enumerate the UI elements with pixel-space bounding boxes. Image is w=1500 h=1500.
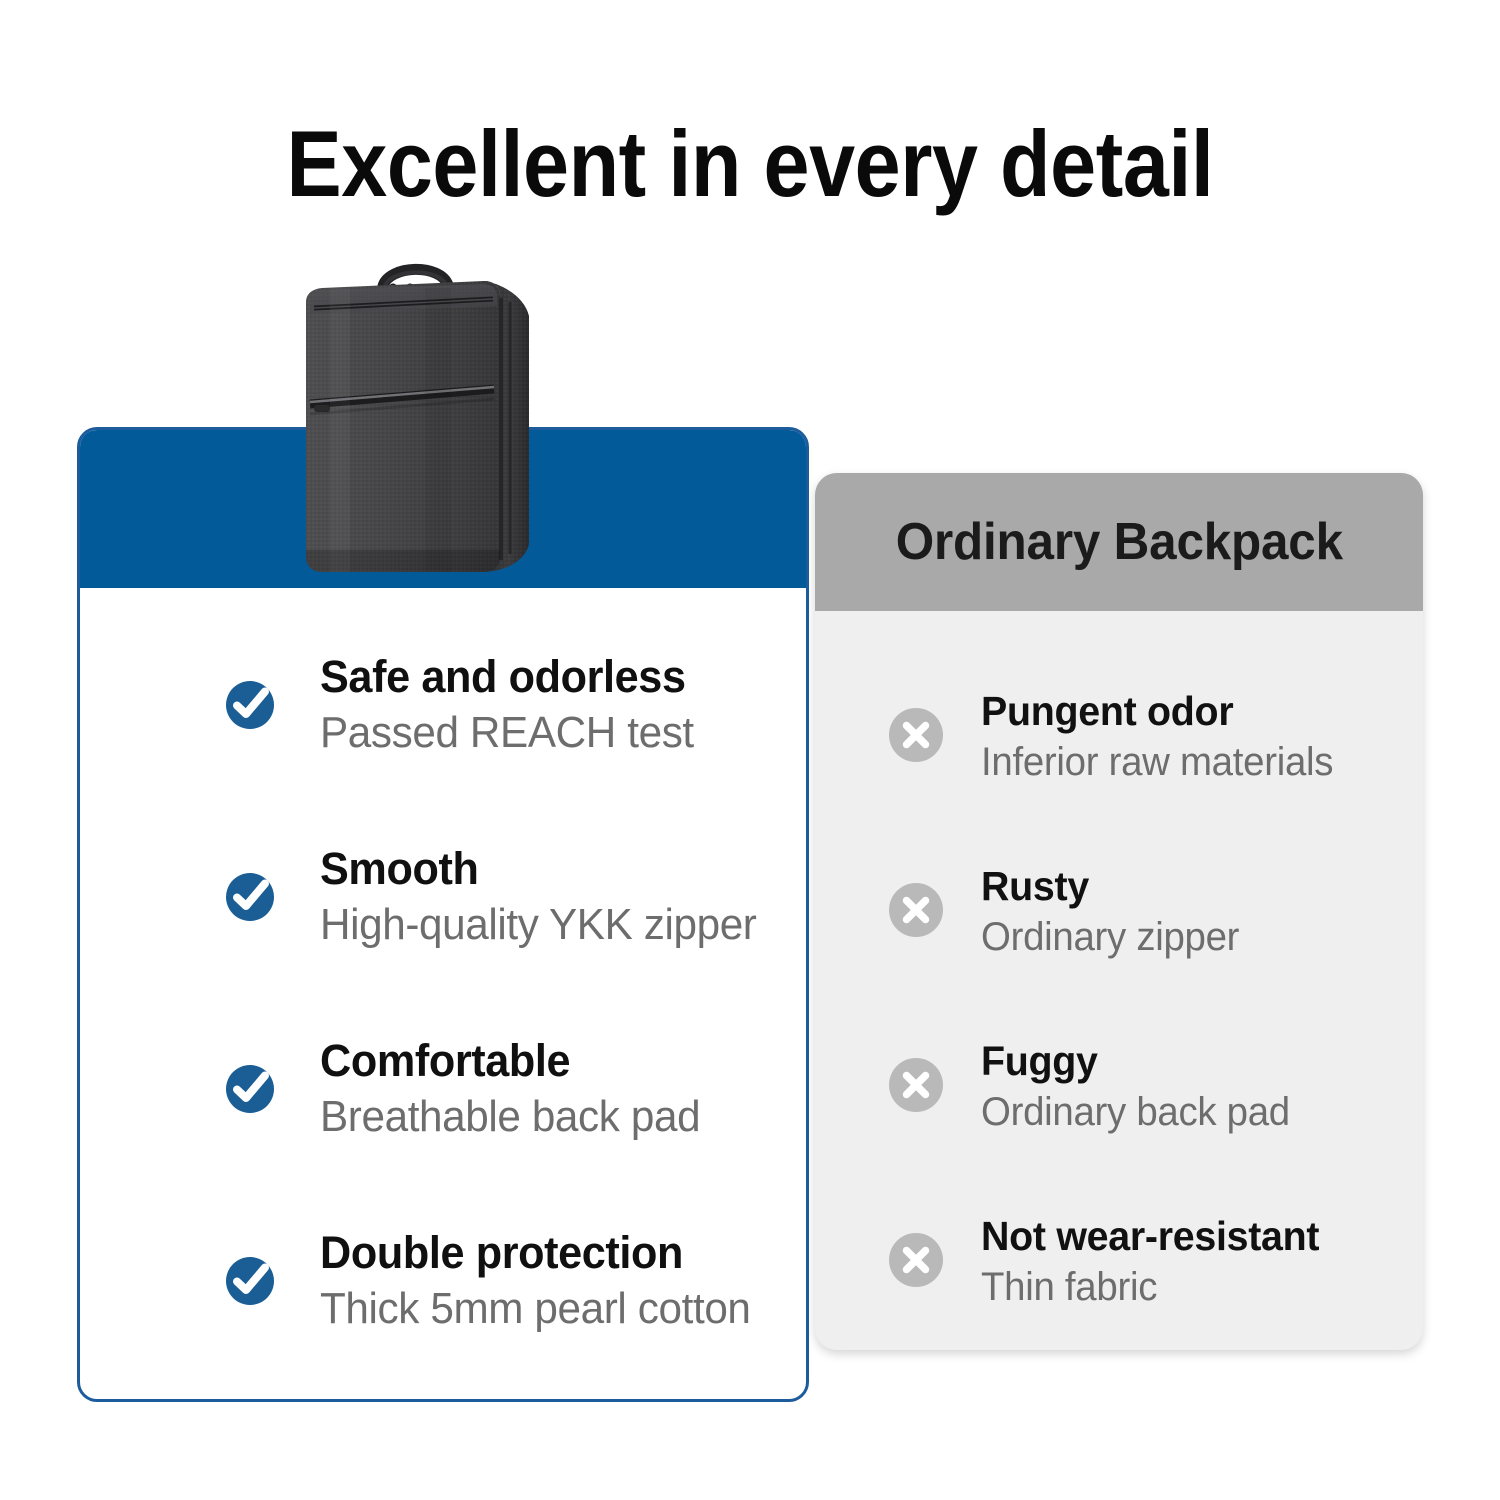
list-item-subtitle: Inferior raw materials [981, 736, 1333, 788]
backpack-product-image [288, 258, 553, 580]
list-item-title: Comfortable [320, 1034, 700, 1088]
list-item: Fuggy Ordinary back pad [815, 1023, 1423, 1151]
ordinary-feature-list: Pungent odor Inferior raw materials Rust… [815, 611, 1423, 1326]
premium-feature-list: Safe and odorless Passed REACH test Smoo… [80, 588, 806, 1346]
list-item-subtitle: Ordinary zipper [981, 911, 1239, 963]
list-item-text: Smooth High-quality YKK zipper [320, 842, 775, 954]
check-circle-icon [220, 866, 280, 931]
list-item-text: Pungent odor Inferior raw materials [981, 686, 1348, 788]
list-item-title: Pungent odor [981, 686, 1333, 736]
list-item: Not wear-resistant Thin fabric [815, 1198, 1423, 1326]
list-item: Safe and odorless Passed REACH test [80, 642, 806, 770]
list-item-text: Safe and odorless Passed REACH test [320, 650, 709, 762]
list-item-title: Rusty [981, 861, 1239, 911]
list-item-subtitle: Passed REACH test [320, 704, 694, 762]
list-item: Pungent odor Inferior raw materials [815, 673, 1423, 801]
list-item-title: Double protection [320, 1226, 751, 1280]
list-item-subtitle: Breathable back pad [320, 1088, 700, 1146]
list-item-text: Double protection Thick 5mm pearl cotton [320, 1226, 768, 1338]
x-circle-icon [887, 1231, 945, 1294]
page-title: Excellent in every detail [90, 112, 1410, 216]
ordinary-card-header-title: Ordinary Backpack [895, 512, 1342, 572]
list-item-text: Rusty Ordinary zipper [981, 861, 1250, 963]
list-item-title: Smooth [320, 842, 756, 896]
list-item-subtitle: Thick 5mm pearl cotton [320, 1280, 751, 1338]
list-item-title: Not wear-resistant [981, 1211, 1319, 1261]
infographic-canvas: Excellent in every detail Ordinary Backp… [0, 0, 1500, 1500]
list-item: Double protection Thick 5mm pearl cotton [80, 1218, 806, 1346]
list-item-text: Comfortable Breathable back pad [320, 1034, 716, 1146]
x-circle-icon [887, 881, 945, 944]
list-item-subtitle: Thin fabric [981, 1261, 1319, 1313]
list-item-text: Fuggy Ordinary back pad [981, 1036, 1303, 1138]
check-circle-icon [220, 1058, 280, 1123]
check-circle-icon [220, 1250, 280, 1315]
list-item-subtitle: Ordinary back pad [981, 1086, 1290, 1138]
list-item-subtitle: High-quality YKK zipper [320, 896, 756, 954]
ordinary-card-header: Ordinary Backpack [815, 473, 1423, 611]
list-item: Rusty Ordinary zipper [815, 848, 1423, 976]
x-circle-icon [887, 706, 945, 769]
ordinary-backpack-card: Ordinary Backpack Pungent odor Inferior … [815, 473, 1423, 1350]
list-item-text: Not wear-resistant Thin fabric [981, 1211, 1333, 1313]
check-circle-icon [220, 674, 280, 739]
x-circle-icon [887, 1056, 945, 1119]
list-item-title: Safe and odorless [320, 650, 694, 704]
list-item: Comfortable Breathable back pad [80, 1026, 806, 1154]
list-item: Smooth High-quality YKK zipper [80, 834, 806, 962]
list-item-title: Fuggy [981, 1036, 1290, 1086]
